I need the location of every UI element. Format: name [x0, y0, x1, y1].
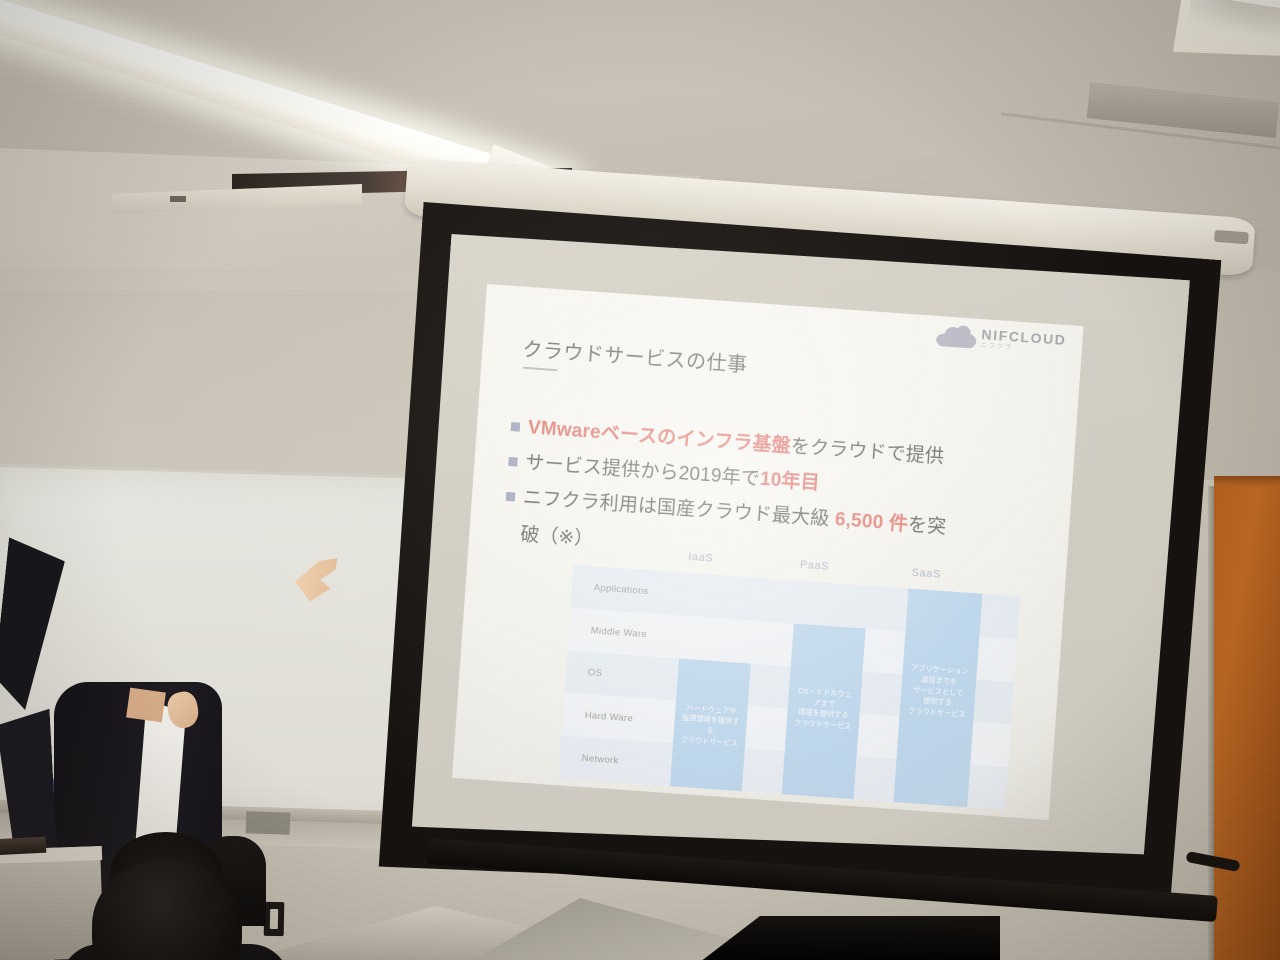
- row-label: Network: [559, 751, 619, 766]
- bullet-square-icon: [508, 457, 518, 467]
- bullet-rest: を突: [907, 514, 947, 538]
- desk-object: [0, 837, 46, 856]
- presenter-neck: [126, 688, 166, 723]
- wood-wall-panel: [1214, 476, 1280, 960]
- bullet-highlight: VMwareベースのインフラ基盤: [527, 417, 791, 457]
- lecture-room-photo: NIFCLOUD ニフクラ クラウドサービスの仕事 VMwareベースのインフラ…: [0, 0, 1280, 960]
- bullet-square-icon: [506, 492, 516, 502]
- suit-lapel-left: [0, 537, 67, 712]
- column-header-paas: PaaS: [800, 559, 830, 573]
- column-header-saas: SaaS: [911, 567, 941, 581]
- iaas-paas-saas-diagram: IaaS PaaS SaaS Applications Middle Ware …: [540, 542, 1030, 813]
- bullet-square-icon: [511, 422, 521, 432]
- projected-slide: NIFCLOUD ニフクラ クラウドサービスの仕事 VMwareベースのインフラ…: [452, 284, 1083, 820]
- left-wall-upper: [0, 290, 420, 490]
- recess-fitting: [170, 196, 186, 202]
- bullet-highlight: 10年目: [759, 469, 820, 494]
- bar-saas: アプリケーション環境までをサービスとして提供するクラウドサービス: [893, 589, 982, 808]
- side-desk: [0, 846, 104, 960]
- bullet-pre: サービス提供から2019年で: [525, 452, 761, 490]
- row-label: OS: [565, 666, 602, 680]
- bar-label-saas: アプリケーション環境までをサービスとして提供するクラウドサービス: [905, 663, 971, 721]
- bullet-highlight: 6,500 件: [834, 509, 909, 535]
- logo-wordmark: NIFCLOUD ニフクラ: [981, 327, 1067, 355]
- bar-paas: OS・ミドルウェアまで環境を提供するクラウドサービス: [782, 623, 866, 799]
- title-underline: [523, 367, 557, 371]
- nifcloud-logo: NIFCLOUD ニフクラ: [936, 324, 1067, 355]
- wood-panel-trim: [1214, 476, 1280, 486]
- row-label: Applications: [571, 581, 648, 597]
- row-label: Hard Ware: [562, 709, 633, 725]
- bar-iaas: ハードウェアや仮想環境を提供するクラウドサービス: [670, 658, 751, 791]
- light-louver: [1186, 0, 1280, 54]
- wall-outlet[interactable]: [264, 902, 285, 936]
- bar-label-paas: OS・ミドルウェアまで環境を提供するクラウドサービス: [792, 686, 855, 733]
- row-label: Middle Ware: [568, 623, 647, 640]
- roller-end-cap: [1214, 230, 1249, 244]
- stack-rows: Applications Middle Ware OS Hard Ware Ne…: [558, 565, 1020, 810]
- cloud-icon: [936, 324, 977, 349]
- bullet-rest: をクラウドで提供: [790, 436, 945, 468]
- column-header-iaas: IaaS: [688, 551, 714, 565]
- bar-label-iaas: ハードウェアや仮想環境を提供するクラウドサービス: [679, 702, 742, 749]
- presenter-pointing-hand: [291, 554, 348, 604]
